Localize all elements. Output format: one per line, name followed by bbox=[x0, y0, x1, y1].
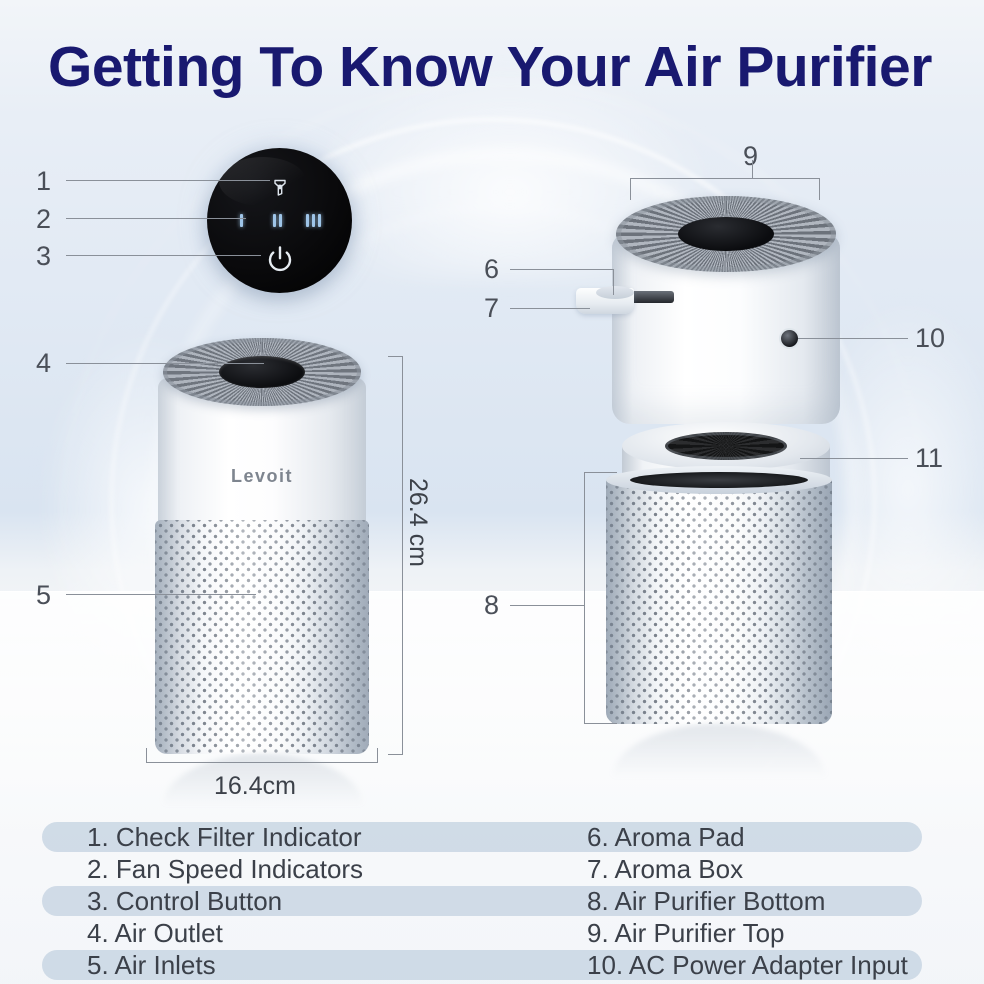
control-panel-detail bbox=[207, 148, 352, 293]
callout-line-4 bbox=[66, 363, 264, 364]
legend-item-5: 5. Air Inlets bbox=[87, 950, 216, 980]
callout-number-7: 7 bbox=[484, 295, 499, 322]
aroma-box-arm bbox=[628, 291, 674, 303]
aroma-pad bbox=[596, 286, 634, 299]
callout-number-5: 5 bbox=[36, 582, 51, 609]
base-mesh-shading bbox=[606, 476, 832, 724]
callout-number-8: 8 bbox=[484, 592, 499, 619]
air-inlets-mesh bbox=[155, 520, 369, 754]
callout-line-1 bbox=[66, 180, 270, 181]
callout-number-6: 6 bbox=[484, 256, 499, 283]
callout-line-3 bbox=[66, 255, 261, 256]
callout-line-10 bbox=[798, 338, 908, 339]
legend-row: 3. Control Button 8. Air Purifier Bottom bbox=[42, 886, 942, 918]
callout-number-4: 4 bbox=[36, 350, 51, 377]
page-title: Getting To Know Your Air Purifier bbox=[48, 34, 948, 100]
callout-bracket-9-right bbox=[819, 178, 820, 200]
three-stage-filter-top bbox=[622, 422, 830, 470]
fan-speed-indicators bbox=[207, 214, 352, 228]
legend-item-6: 6. Aroma Pad bbox=[587, 822, 745, 852]
callout-bracket-9-top bbox=[630, 178, 820, 179]
activated-carbon-layer bbox=[665, 432, 787, 460]
callout-line-6-drop bbox=[613, 269, 614, 295]
width-dimension-label: 16.4cm bbox=[214, 772, 296, 801]
mesh-shading bbox=[155, 520, 369, 754]
legend-item-10: 10. AC Power Adapter Input bbox=[587, 950, 908, 980]
callout-number-3: 3 bbox=[36, 243, 51, 270]
callout-line-7 bbox=[510, 308, 590, 309]
legend-item-4: 4. Air Outlet bbox=[87, 918, 223, 948]
top-control-surface bbox=[678, 217, 774, 251]
legend: 1. Check Filter Indicator 6. Aroma Pad 2… bbox=[0, 822, 984, 984]
callout-bracket-9-left bbox=[630, 178, 631, 200]
grille-control-surface bbox=[219, 356, 305, 388]
legend-row: 4. Air Outlet 9. Air Purifier Top bbox=[42, 918, 942, 950]
legend-item-3: 3. Control Button bbox=[87, 886, 282, 916]
panel-glint bbox=[219, 157, 306, 206]
legend-row: 1. Check Filter Indicator 6. Aroma Pad bbox=[42, 822, 942, 854]
legend-row: 5. Air Inlets 10. AC Power Adapter Input bbox=[42, 950, 942, 982]
callout-number-9: 9 bbox=[743, 143, 758, 170]
legend-item-8: 8. Air Purifier Bottom bbox=[587, 886, 825, 916]
callout-bracket-9-tick bbox=[752, 160, 753, 178]
callout-line-5 bbox=[66, 594, 256, 595]
top-air-outlet-grille bbox=[616, 196, 836, 272]
callout-bracket-8-vert bbox=[584, 472, 585, 724]
legend-row: 2. Fan Speed Indicators 7. Aroma Box bbox=[42, 854, 942, 886]
base-cavity bbox=[630, 472, 808, 488]
callout-number-2: 2 bbox=[36, 206, 51, 233]
callout-number-1: 1 bbox=[36, 168, 51, 195]
callout-bracket-8-bottom bbox=[584, 723, 617, 724]
callout-line-2 bbox=[66, 218, 246, 219]
callout-bracket-8-top bbox=[584, 472, 617, 473]
callout-line-8 bbox=[510, 605, 585, 606]
legend-item-7: 7. Aroma Box bbox=[587, 854, 743, 884]
air-purifier-bottom-mesh bbox=[606, 476, 832, 724]
base-rim bbox=[606, 466, 832, 494]
legend-item-9: 9. Air Purifier Top bbox=[587, 918, 785, 948]
brand-logo: Levoit bbox=[158, 466, 366, 487]
legend-item-2: 2. Fan Speed Indicators bbox=[87, 854, 363, 884]
check-filter-indicator-icon bbox=[273, 179, 286, 196]
power-button-icon bbox=[265, 244, 295, 274]
ac-power-adapter-input bbox=[781, 330, 798, 347]
callout-line-6 bbox=[510, 269, 614, 270]
infographic-canvas: Getting To Know Your Air Purifier 1 2 bbox=[0, 0, 984, 984]
legend-item-1: 1. Check Filter Indicator bbox=[87, 822, 362, 852]
callout-number-11: 11 bbox=[915, 445, 943, 472]
callout-line-11 bbox=[800, 458, 908, 459]
air-outlet-grille bbox=[163, 338, 361, 406]
callout-number-10: 10 bbox=[915, 325, 945, 352]
height-dimension-label: 26.4 cm bbox=[403, 478, 432, 567]
